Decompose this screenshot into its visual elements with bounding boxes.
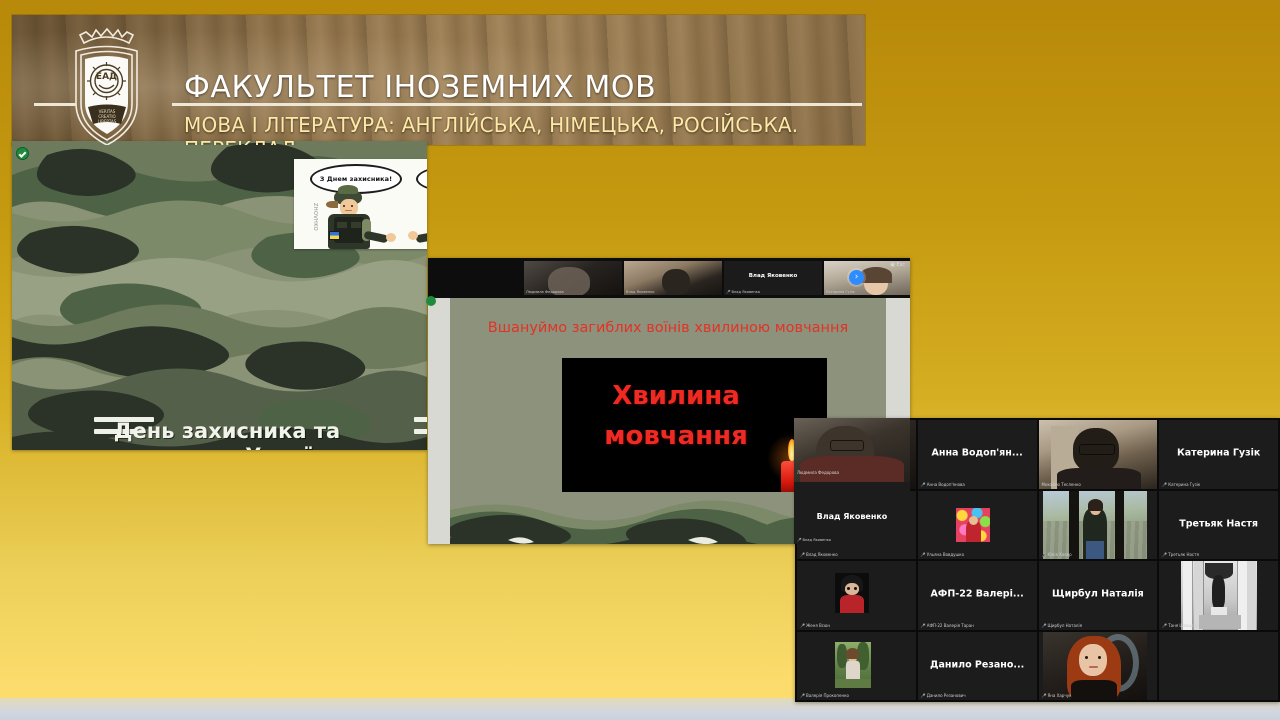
cartoon-bubble-right: ...і захисниці! — [416, 164, 427, 194]
gallery-cell[interactable]: АФП-22 Валері... 🎤АФП-22 Валерія Таран — [918, 561, 1037, 630]
cell-avatar — [956, 508, 990, 542]
zoom-presentation-window[interactable]: Людмила Федорова Влад Яковенко Влад Яков… — [428, 258, 910, 544]
gallery-cell[interactable]: Данило Резано... 🎤Данило Резанович — [918, 632, 1037, 701]
cell-avatar — [835, 642, 871, 688]
cell-name: АФП-22 Валері... — [922, 589, 1033, 600]
cartoon-watermark-left: ZHOVHKO — [312, 203, 318, 231]
gallery-cell[interactable]: 🎤Женя Всюн — [797, 561, 916, 630]
esc-button[interactable]: ▣ Esc — [890, 262, 905, 268]
cell-name: Третьяк Настя — [1163, 518, 1274, 529]
gallery-cell[interactable]: Третьяк Настя 🎤Третьяк Настя — [1159, 491, 1278, 560]
pip-name: Влад Яковенко — [794, 512, 910, 521]
strip-tile[interactable]: Влад Яковенко 🎤Влад Яковенко — [724, 261, 822, 295]
gallery-cell[interactable]: Щирбул Наталія 🎤Щирбул Наталія — [1039, 561, 1158, 630]
cell-avatar — [835, 573, 869, 613]
gallery-cell[interactable]: Анна Водоп'ян... 🎤Анна Водоп'янова — [918, 420, 1037, 489]
cell-tag: Михайло Тесленко — [1042, 482, 1081, 487]
zoom-participant-strip[interactable]: Людмила Федорова Влад Яковенко Влад Яков… — [428, 258, 910, 298]
gallery-cell[interactable]: 🎤Таня Шевцова — [1159, 561, 1278, 630]
gallery-cell[interactable]: Катерина Гузік 🎤Катерина Гузік — [1159, 420, 1278, 489]
strip-tile-tag: 🎤Влад Яковенко — [726, 290, 760, 294]
gallery-cell[interactable]: 🎤Валерія Прокопенко — [797, 632, 916, 701]
pip-video-tag: Людмила Федорова — [797, 470, 839, 475]
cell-name: Щирбул Наталія — [1043, 589, 1154, 600]
gallery-cell[interactable]: 🎤Ульяна Вовдушко — [918, 491, 1037, 560]
cell-video — [1043, 632, 1147, 701]
gallery-cell[interactable]: 🎤Яна Харчук — [1039, 632, 1158, 701]
cell-tag: 🎤Данило Резанович — [921, 693, 966, 698]
pip-participant-panel[interactable]: Людмила Федорова Влад Яковенко 🎤Влад Яко… — [794, 418, 910, 544]
svg-text:LIBERTAS: LIBERTAS — [98, 119, 117, 124]
strip-tile-name: Влад Яковенко — [724, 273, 822, 279]
gallery-cell[interactable]: 🎤Юлія Хавер — [1039, 491, 1158, 560]
defender-day-cartoon: З Днем захисника! ...і захисниці! ZHOVHK… — [294, 159, 427, 249]
cartoon-bubble-left-text: З Днем захисника! — [320, 175, 392, 183]
faculty-banner: ЕАД VERITAS CREATIO LIBERTAS ФАКУЛЬТЕТ І… — [12, 15, 865, 145]
svg-text:ЕАД: ЕАД — [96, 72, 117, 82]
chevron-right-icon[interactable]: › — [849, 270, 864, 285]
cell-tag: 🎤АФП-22 Валерія Таран — [921, 623, 974, 628]
slide1-status-icon — [16, 147, 29, 160]
cell-tag: 🎤Влад Яковенко — [800, 552, 838, 557]
gallery-cell-empty[interactable] — [1159, 632, 1278, 701]
banner-rule-left — [34, 103, 76, 106]
slide1-decor-bars-right — [414, 417, 427, 441]
slide2-image-text: Хвилина мовчання — [576, 376, 776, 456]
slide1-title: День захисника та захисниць України — [82, 419, 372, 450]
strip-tile[interactable]: Влад Яковенко — [624, 261, 722, 295]
cell-name: Данило Резано... — [922, 659, 1033, 670]
strip-tile-tag: Катерина Гузік — [826, 290, 855, 294]
cell-tag: 🎤Щирбул Наталія — [1042, 623, 1082, 628]
cell-tag: 🎤Валерія Прокопенко — [800, 693, 849, 698]
cell-name: Анна Водоп'ян... — [922, 448, 1033, 459]
strip-tile-tag: Людмила Федорова — [526, 290, 564, 294]
window2-status-icon — [426, 296, 436, 306]
strip-tile-tag: Влад Яковенко — [626, 290, 655, 294]
cell-name: Катерина Гузік — [1163, 448, 1274, 459]
cell-video — [1043, 491, 1147, 560]
banner-subtitle: МОВА І ЛІТЕРАТУРА: АНГЛІЙСЬКА, НІМЕЦЬКА,… — [184, 113, 865, 145]
cell-tag: 🎤Юлія Хавер — [1042, 552, 1072, 557]
cell-tag: 🎤Третьяк Настя — [1162, 552, 1199, 557]
cell-tag: 🎤Таня Шевцова — [1162, 623, 1198, 628]
cell-tag: 🎤Анна Водоп'янова — [921, 482, 965, 487]
pip-tag: 🎤Влад Яковенко — [797, 538, 831, 542]
slide2-image: Хвилина мовчання — [562, 358, 827, 505]
presentation-viewport: Вшануймо загиблих воїнів хвилиною мовчан… — [428, 298, 910, 544]
university-crest-icon: ЕАД VERITAS CREATIO LIBERTAS — [54, 21, 159, 145]
slide-defender-day[interactable]: З Днем захисника! ...і захисниці! ZHOVHK… — [12, 141, 427, 450]
strip-tile[interactable]: Людмила Федорова — [524, 261, 622, 295]
banner-title: ФАКУЛЬТЕТ ІНОЗЕМНИХ МОВ — [184, 70, 656, 105]
gallery-cell-active-speaker[interactable]: Михайло Тесленко — [1039, 420, 1158, 489]
cell-tag: 🎤Яна Харчук — [1042, 693, 1072, 698]
cell-tag: 🎤Ульяна Вовдушко — [921, 552, 964, 557]
slide2-heading: Вшануймо загиблих воїнів хвилиною мовчан… — [478, 318, 858, 339]
cell-photo — [1181, 561, 1257, 630]
cell-tag: 🎤Женя Всюн — [800, 623, 830, 628]
cell-tag: 🎤Катерина Гузік — [1162, 482, 1200, 487]
